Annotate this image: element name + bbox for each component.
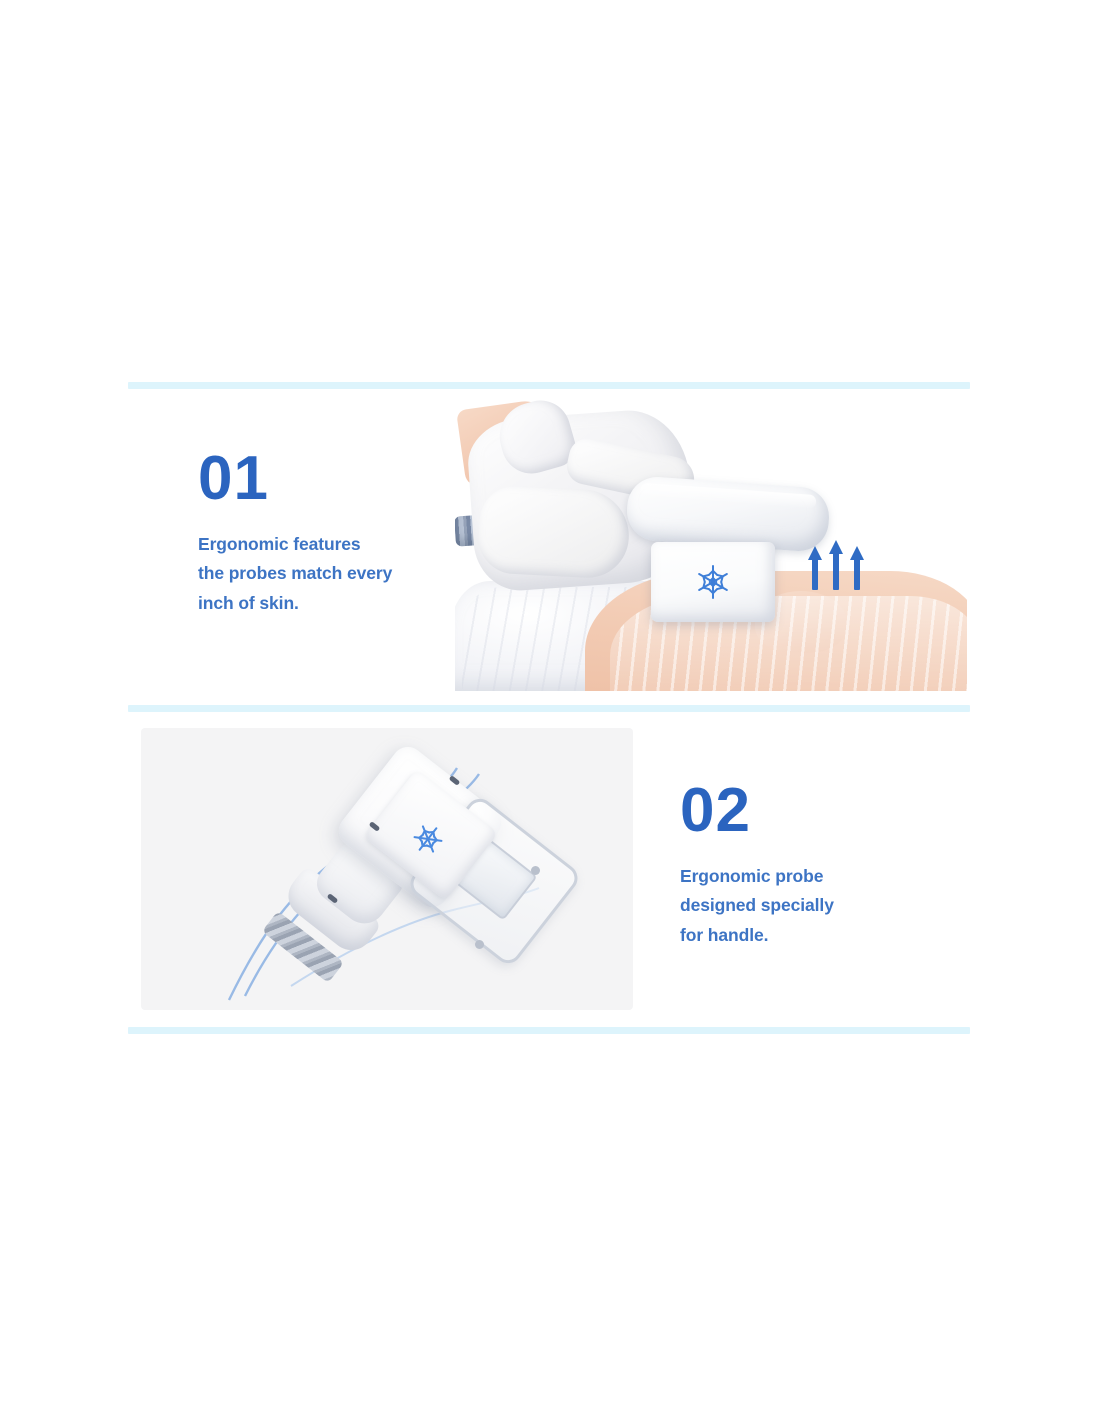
feature-02-caption-line-2: designed specially [680,891,930,920]
feature-01-caption: Ergonomic features the probes match ever… [198,530,448,618]
treatment-scene [455,396,967,691]
feature-01-caption-line-1: Ergonomic features [198,530,448,559]
cryo-probe-device [259,750,559,1000]
feature-02-caption-line-1: Ergonomic probe [680,862,930,891]
feature-01-caption-line-2: the probes match every [198,559,448,588]
bracket-pivot-dot-bottom [475,940,484,949]
marketing-page: 01 Ergonomic features the probes match e… [0,0,1100,1422]
feature-02-caption: Ergonomic probe designed specially for h… [680,862,930,950]
applicator-cup [651,542,775,622]
divider-bottom [128,1027,970,1034]
feature-01-caption-line-3: inch of skin. [198,589,448,618]
snowflake-icon [693,562,733,602]
divider-middle [128,705,970,712]
divider-top [128,382,970,389]
up-arrows-icon [807,538,867,594]
feature-01-number: 01 [198,448,448,510]
feature-02-photo: Close-up product shot of the white ergon… [141,728,633,1010]
feature-01-photo: Gloved hand holding the cooling handpiec… [455,396,967,691]
glove-knuckles [477,484,631,580]
feature-02-caption-line-3: for handle. [680,921,930,950]
feature-02-number: 02 [680,780,930,842]
feature-01-text: 01 Ergonomic features the probes match e… [198,448,448,618]
bracket-pivot-dot-top [531,866,540,875]
feature-02-text: 02 Ergonomic probe designed specially fo… [680,780,930,950]
